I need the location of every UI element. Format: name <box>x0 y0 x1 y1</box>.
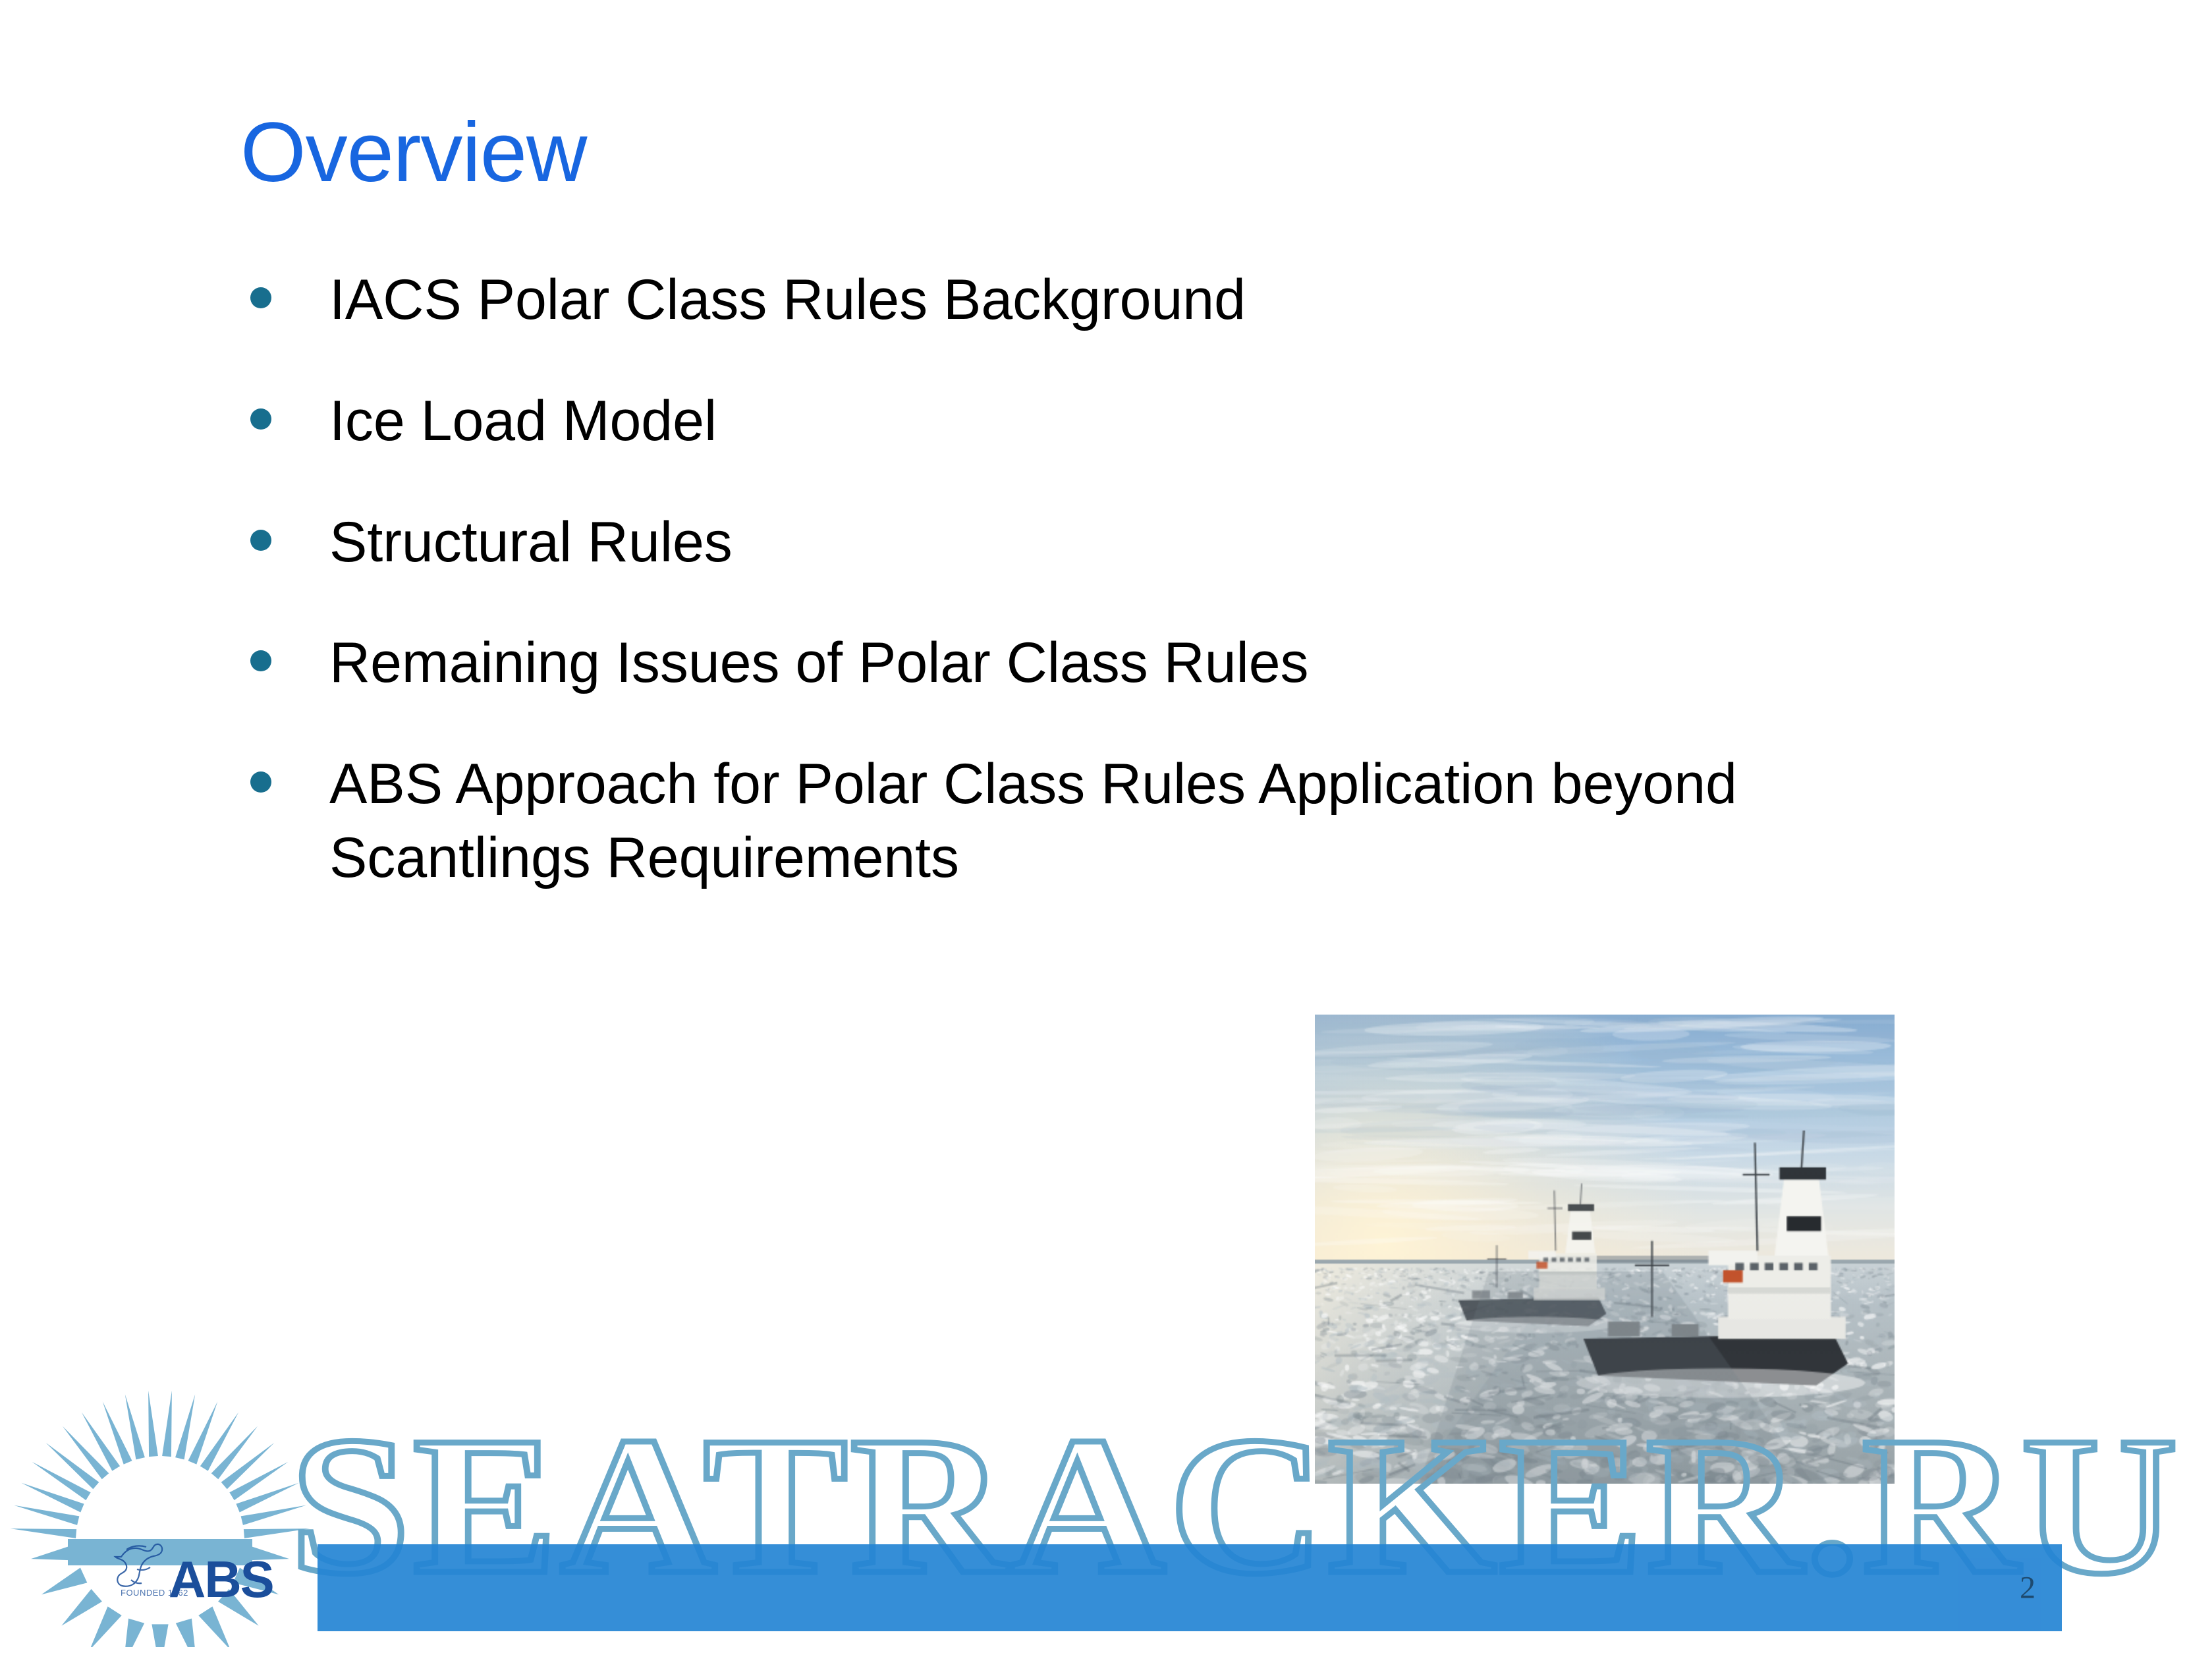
list-item-label: IACS Polar Class Rules Background <box>329 264 1910 337</box>
footer-bar: 2 <box>318 1544 2062 1631</box>
bullet-dot-icon <box>250 650 271 671</box>
abs-logo: FOUNDED 1862 ABS <box>5 1337 315 1647</box>
list-item: ABS Approach for Polar Class Rules Appli… <box>250 748 1950 895</box>
list-item: Structural Rules <box>250 506 1950 580</box>
page-title: Overview <box>240 111 586 195</box>
list-item-label: Structural Rules <box>329 506 1910 580</box>
bullet-dot-icon <box>250 530 271 551</box>
list-item-label: Ice Load Model <box>329 385 1910 459</box>
bullet-dot-icon <box>250 287 271 308</box>
bullet-dot-icon <box>250 408 271 430</box>
list-item: Remaining Issues of Polar Class Rules <box>250 627 1950 700</box>
ship-in-ice-photo <box>1315 1015 1895 1484</box>
bullet-dot-icon <box>250 771 271 793</box>
list-item-label: Remaining Issues of Polar Class Rules <box>329 627 1910 700</box>
list-item: Ice Load Model <box>250 385 1950 459</box>
presentation-slide: Overview IACS Polar Class Rules Backgrou… <box>0 0 2189 1680</box>
logo-wordmark: ABS <box>169 1550 273 1608</box>
list-item-label: ABS Approach for Polar Class Rules Appli… <box>329 748 1910 895</box>
ship-photo-canvas <box>1315 1015 1895 1484</box>
list-item: IACS Polar Class Rules Background <box>250 264 1950 337</box>
page-number: 2 <box>2020 1570 2036 1606</box>
bullet-list: IACS Polar Class Rules Background Ice Lo… <box>250 264 1950 943</box>
